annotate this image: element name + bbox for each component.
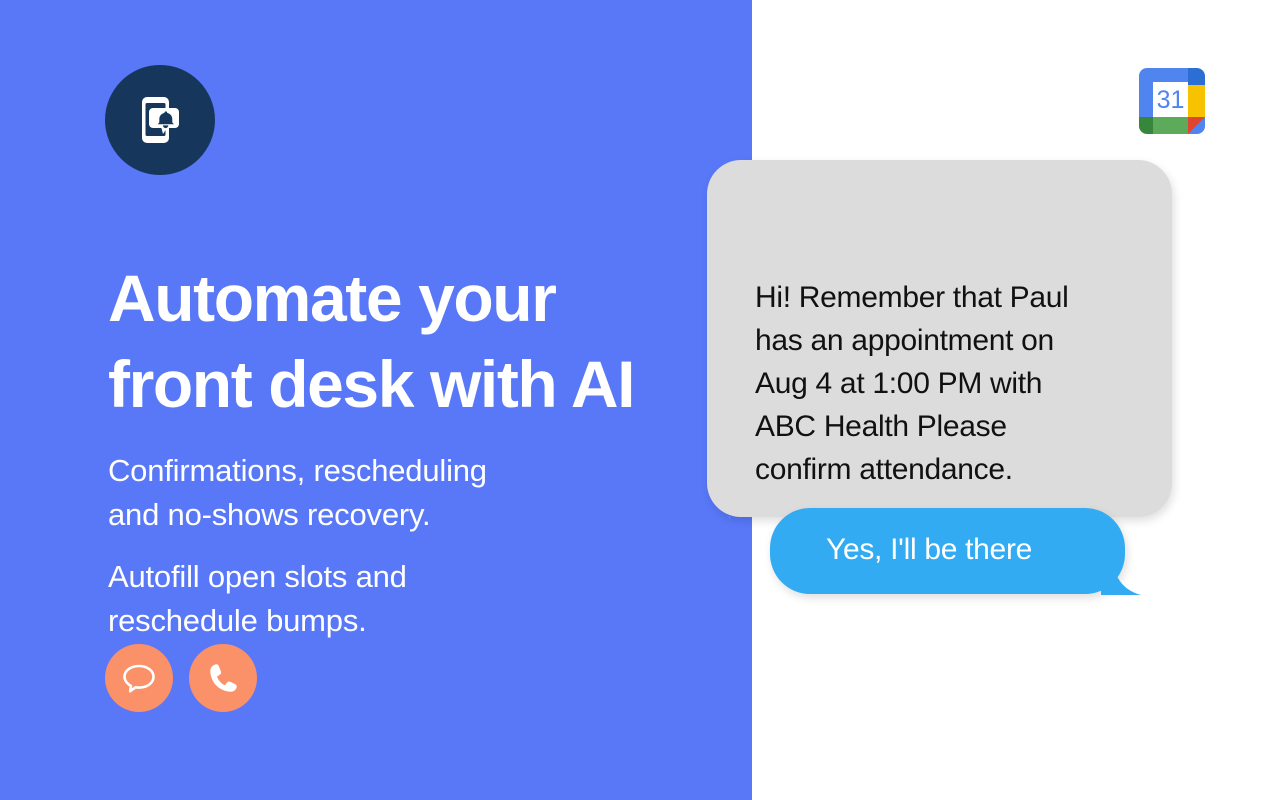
subcopy-line-1: Confirmations, rescheduling and no-shows… bbox=[108, 449, 628, 537]
brand-badge bbox=[105, 65, 215, 175]
bubble-tail-incoming bbox=[690, 474, 730, 518]
message-text-incoming: Hi! Remember that Paul has an appointmen… bbox=[755, 281, 1069, 486]
phone-handset-icon bbox=[206, 661, 240, 695]
promo-banner: Automate your front desk with AI Confirm… bbox=[0, 0, 1280, 800]
page-title: Automate your front desk with AI bbox=[108, 255, 708, 427]
message-bubble-outgoing: Yes, I'll be there bbox=[770, 508, 1125, 594]
chat-bubble-icon bbox=[121, 660, 157, 696]
bubble-tail-outgoing bbox=[1101, 551, 1141, 595]
channel-call-button[interactable] bbox=[189, 644, 257, 712]
channel-icon-row bbox=[105, 644, 257, 712]
calendar-day-number: 31 bbox=[1157, 86, 1185, 114]
phone-notification-icon bbox=[131, 91, 189, 149]
subcopy-line-2: Autofill open slots and reschedule bumps… bbox=[108, 555, 628, 643]
left-blue-panel: Automate your front desk with AI Confirm… bbox=[0, 0, 752, 800]
message-text-outgoing: Yes, I'll be there bbox=[826, 533, 1032, 566]
message-bubble-incoming: Hi! Remember that Paul has an appointmen… bbox=[707, 160, 1172, 517]
channel-chat-button[interactable] bbox=[105, 644, 173, 712]
google-calendar-icon: 31 bbox=[1133, 62, 1211, 140]
